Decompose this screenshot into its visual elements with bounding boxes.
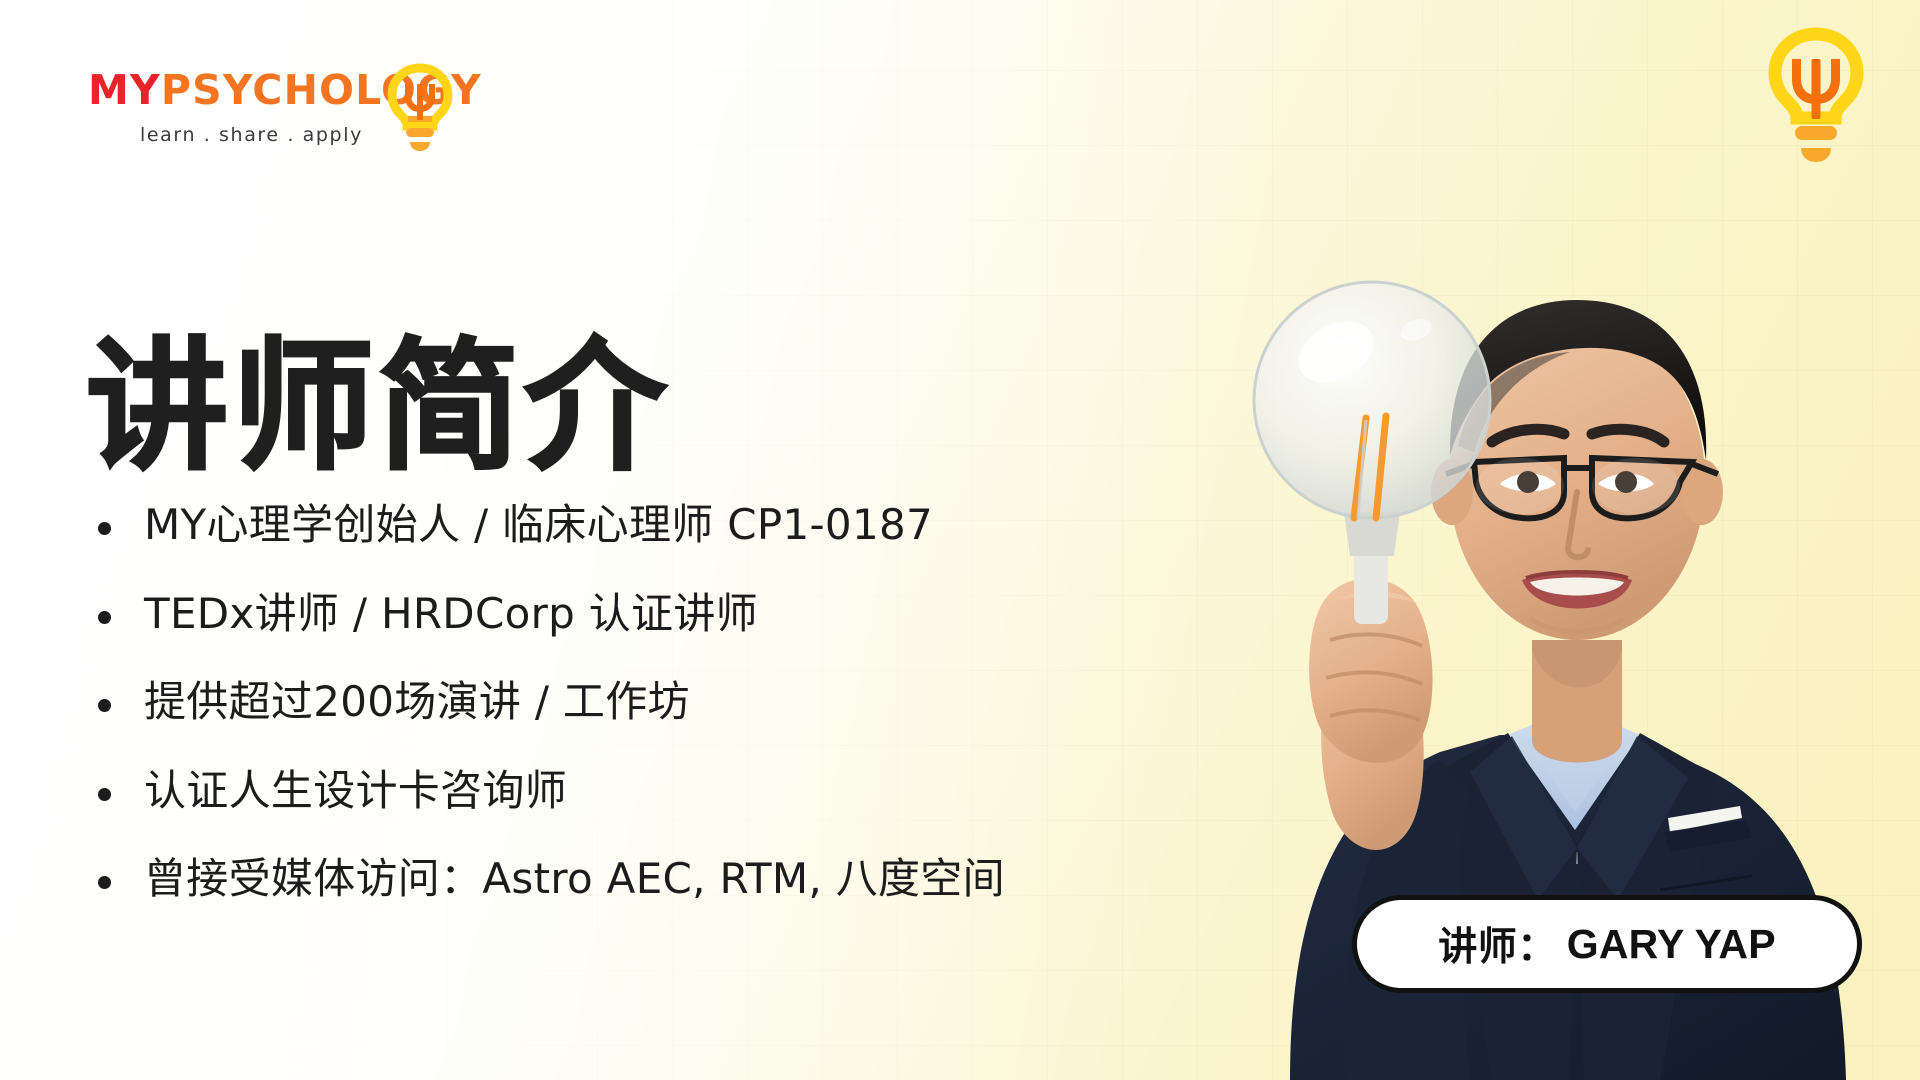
bullet-dot-icon xyxy=(98,788,111,801)
page-title: 讲师简介 xyxy=(86,333,670,484)
list-item-label: 曾接受媒体访问：Astro AEC, RTM, 八度空间 xyxy=(144,854,1005,903)
list-item: 提供超过200场演讲 / 工作坊 xyxy=(92,677,1242,727)
corner-lightbulb-psi-icon xyxy=(1764,26,1868,166)
list-item-label: 认证人生设计卡咨询师 xyxy=(144,766,567,815)
list-item-label: 提供超过200场演讲 / 工作坊 xyxy=(144,677,690,726)
brand-logo: MYPSYCHOLOGY learn . share . apply xyxy=(88,70,448,146)
poster-canvas: MYPSYCHOLOGY learn . share . apply 讲师简介 xyxy=(0,0,1920,1080)
held-lightbulb-prop xyxy=(1254,282,1490,624)
bullet-dot-icon xyxy=(98,522,111,535)
credentials-list: MY心理学创始人 / 临床心理师 CP1-0187 TEDx讲师 / HRDCo… xyxy=(92,500,1242,904)
list-item: 曾接受媒体访问：Astro AEC, RTM, 八度空间 xyxy=(92,854,1242,904)
bullet-dot-icon xyxy=(98,611,111,624)
logo-lightbulb-psi-icon xyxy=(384,62,456,154)
list-item-label: TEDx讲师 / HRDCorp 认证讲师 xyxy=(144,589,758,638)
list-item: 认证人生设计卡咨询师 xyxy=(92,766,1242,816)
list-item-label: MY心理学创始人 / 临床心理师 CP1-0187 xyxy=(144,500,933,549)
list-item: MY心理学创始人 / 临床心理师 CP1-0187 xyxy=(92,500,1242,550)
list-item: TEDx讲师 / HRDCorp 认证讲师 xyxy=(92,589,1242,639)
speaker-name-badge: 讲师： GARY YAP xyxy=(1352,895,1862,993)
speaker-name: GARY YAP xyxy=(1567,921,1776,968)
bullet-dot-icon xyxy=(98,699,111,712)
logo-word-my: MY xyxy=(88,66,161,114)
speaker-role-label: 讲师： xyxy=(1438,916,1557,972)
bulb-glass xyxy=(1254,282,1490,518)
bullet-dot-icon xyxy=(98,876,111,889)
